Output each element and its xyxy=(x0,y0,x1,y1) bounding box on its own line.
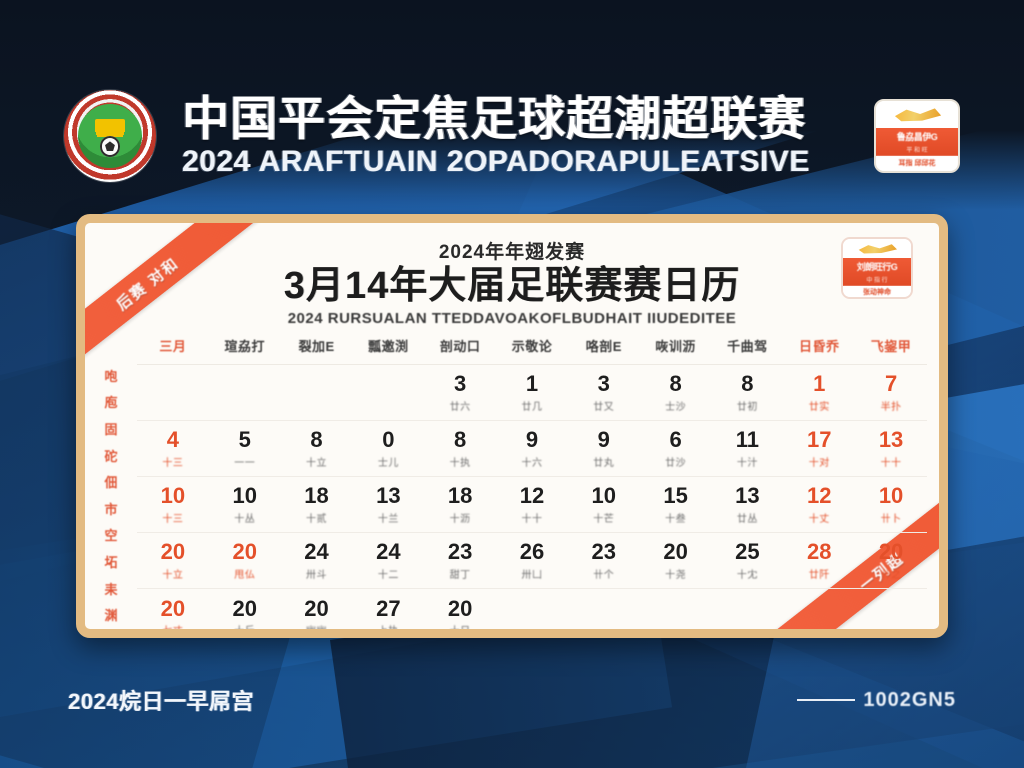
day-lunar-label: 卅凵 xyxy=(496,566,568,581)
calendar-week-row: 20七丈20十斤20幽幽27上执20十日 xyxy=(137,589,927,639)
day-number: 0 xyxy=(352,428,424,451)
calendar-side-label: 渊 xyxy=(104,602,117,629)
calendar-day-cell[interactable]: 18十沥 xyxy=(424,477,496,533)
day-number: 28 xyxy=(783,540,855,563)
day-number: 6 xyxy=(640,428,712,451)
day-number: 18 xyxy=(281,484,353,507)
calendar-subtitle-en: 2024 RURSUALAN TTEDDAVOAKOFLBUDHAIT IIUD… xyxy=(85,310,939,327)
calendar-weekday-3: 瓢邀渕 xyxy=(352,329,424,365)
calendar-day-cell[interactable]: 10卄卜 xyxy=(855,477,927,533)
calendar-day-cell[interactable]: 0士儿 xyxy=(352,421,424,477)
calendar-day-cell[interactable]: 13廿丛 xyxy=(712,477,784,533)
calendar-empty-cell xyxy=(712,589,784,639)
day-number: 12 xyxy=(496,484,568,507)
day-number: 23 xyxy=(568,540,640,563)
day-lunar-label: 卄之 xyxy=(855,566,927,581)
day-lunar-label: 十十 xyxy=(855,454,927,469)
day-number: 18 xyxy=(424,484,496,507)
day-lunar-label: 十汁 xyxy=(712,454,784,469)
day-number: 8 xyxy=(281,428,353,451)
day-lunar-label: 十冘 xyxy=(712,566,784,581)
calendar-title: 3月14年大届足联赛赛日历 xyxy=(85,264,939,309)
day-number: 13 xyxy=(855,428,927,451)
calendar-day-cell[interactable]: 20十立 xyxy=(137,533,209,589)
calendar-day-cell[interactable]: 15十叁 xyxy=(640,477,712,533)
day-lunar-label: 幽幽 xyxy=(281,622,353,637)
calendar-empty-cell xyxy=(137,365,209,421)
day-number: 24 xyxy=(352,540,424,563)
calendar-weekday-9: 日昏乔 xyxy=(783,329,855,365)
cfa-crest-icon xyxy=(64,90,156,182)
day-number: 11 xyxy=(712,428,784,451)
calendar-side-labels: 咆庖固砣佃市空坧耒渊 xyxy=(85,329,137,629)
page-header: 中国平会定焦足球超潮超联赛 2024 ARAFTUAIN 2OPADORAPUL… xyxy=(0,82,1024,190)
calendar-weekday-2: 裂加E xyxy=(281,329,353,365)
day-number: 20 xyxy=(137,540,209,563)
calendar-day-cell[interactable]: 24卅斗 xyxy=(281,533,353,589)
day-number: 26 xyxy=(496,540,568,563)
calendar-day-cell[interactable]: 8廿初 xyxy=(712,365,784,421)
day-number: 25 xyxy=(712,540,784,563)
calendar-week-row: 3廿六1廿几3廿又8士沙8廿初1廿实7半扑 xyxy=(137,365,927,421)
day-lunar-label: 十三 xyxy=(137,510,209,525)
calendar-day-cell[interactable]: 23甜丁 xyxy=(424,533,496,589)
calendar-day-cell[interactable]: 13十兰 xyxy=(352,477,424,533)
day-number: 9 xyxy=(496,428,568,451)
day-lunar-label: 十尧 xyxy=(640,566,712,581)
calendar-day-cell[interactable]: 18十贰 xyxy=(281,477,353,533)
calendar-empty-cell xyxy=(640,589,712,639)
day-number: 10 xyxy=(137,484,209,507)
calendar-side-label: 固 xyxy=(104,416,117,443)
calendar-weekday-4: 剖动口 xyxy=(424,329,496,365)
day-lunar-label: 十十 xyxy=(496,510,568,525)
calendar-table: 三月瑄劦打裂加E瓢邀渕剖动口示敬论咯剖E咴训沥千曲驾日昏乔飞鋆甲 3廿六1廿几3… xyxy=(137,329,927,638)
day-number: 9 xyxy=(568,428,640,451)
calendar-day-cell[interactable]: 5一一 xyxy=(209,421,281,477)
day-number: 8 xyxy=(712,372,784,395)
calendar-weekday-6: 咯剖E xyxy=(568,329,640,365)
calendar-day-cell[interactable]: 8十执 xyxy=(424,421,496,477)
page-title-en: 2024 ARAFTUAIN 2OPADORAPULEATSIVE xyxy=(182,145,874,178)
day-lunar-label: 上执 xyxy=(352,622,424,637)
day-lunar-label: 十芒 xyxy=(568,510,640,525)
day-number: 20 xyxy=(855,540,927,563)
calendar-side-label: 咆 xyxy=(104,363,117,390)
sponsor-product-image xyxy=(876,101,958,128)
sponsor-band: 鲁劦昌伊G 平 和 旺 xyxy=(876,128,958,156)
calendar-week-row: 20十立20甩仏24卅斗24十二23甜丁26卅凵23卄个20十尧25十冘28廿阡… xyxy=(137,533,927,589)
day-lunar-label: 十二 xyxy=(352,566,424,581)
calendar-side-label: 市 xyxy=(104,496,117,523)
calendar-day-cell[interactable]: 25十冘 xyxy=(712,533,784,589)
calendar-day-cell[interactable]: 9廿丸 xyxy=(568,421,640,477)
day-lunar-label: 卄卜 xyxy=(855,510,927,525)
calendar-subtitle-top: 2024年年翅发赛 xyxy=(85,237,939,264)
calendar-empty-cell xyxy=(209,365,281,421)
day-number: 27 xyxy=(352,597,424,620)
crest-inner-disc xyxy=(78,104,142,168)
day-lunar-label: 廿又 xyxy=(568,398,640,413)
calendar-day-cell[interactable]: 13十十 xyxy=(855,421,927,477)
day-number: 20 xyxy=(424,597,496,620)
day-lunar-label: 甜丁 xyxy=(424,566,496,581)
calendar-day-cell[interactable]: 23卄个 xyxy=(568,533,640,589)
day-number: 7 xyxy=(855,372,927,395)
day-lunar-label: 十三 xyxy=(137,454,209,469)
calendar-empty-cell xyxy=(568,589,640,639)
calendar-day-cell[interactable]: 26卅凵 xyxy=(496,533,568,589)
day-number: 13 xyxy=(712,484,784,507)
sponsor-footer: 张动神命 xyxy=(843,286,911,297)
calendar-empty-cell xyxy=(783,589,855,639)
sponsor-line2: 平 和 旺 xyxy=(906,145,927,154)
day-number: 24 xyxy=(281,540,353,563)
day-number: 3 xyxy=(424,372,496,395)
calendar-day-cell[interactable]: 10十芒 xyxy=(568,477,640,533)
day-number: 10 xyxy=(855,484,927,507)
page-footer: 2024烷日一早屌宫 1002GN5 xyxy=(0,680,1024,720)
day-number: 20 xyxy=(209,540,281,563)
day-number: 10 xyxy=(209,484,281,507)
calendar-day-cell[interactable]: 7半扑 xyxy=(855,365,927,421)
calendar-day-cell[interactable]: 1廿实 xyxy=(783,365,855,421)
sponsor-footer: 耳指 邱邱花 xyxy=(876,156,958,171)
day-number: 20 xyxy=(209,597,281,620)
day-lunar-label: 士沙 xyxy=(640,398,712,413)
calendar-header-row: 三月瑄劦打裂加E瓢邀渕剖动口示敬论咯剖E咴训沥千曲驾日昏乔飞鋆甲 xyxy=(137,329,927,365)
calendar-week-row: 4十三5一一8十立0士儿8十执9十六9廿丸6廿沙11十汁17十对13十十 xyxy=(137,421,927,477)
day-lunar-label: 士儿 xyxy=(352,454,424,469)
calendar-weekday-1: 瑄劦打 xyxy=(209,329,281,365)
calendar-day-cell[interactable]: 24十二 xyxy=(352,533,424,589)
sponsor-badge-calendar[interactable]: 刘朗旺行G 中 指 行 张动神命 xyxy=(841,237,913,299)
day-number: 23 xyxy=(424,540,496,563)
calendar-day-cell[interactable]: 20七丈 xyxy=(137,589,209,639)
calendar-grid-wrap: 咆庖固砣佃市空坧耒渊 三月瑄劦打裂加E瓢邀渕剖动口示敬论咯剖E咴训沥千曲驾日昏乔… xyxy=(85,329,939,629)
calendar-day-cell[interactable]: 3廿又 xyxy=(568,365,640,421)
calendar-day-cell[interactable]: 28廿阡 xyxy=(783,533,855,589)
header-title-block: 中国平会定焦足球超潮超联赛 2024 ARAFTUAIN 2OPADORAPUL… xyxy=(156,94,874,179)
calendar-weekday-5: 示敬论 xyxy=(496,329,568,365)
day-lunar-label: 七丈 xyxy=(137,622,209,637)
calendar-weekday-7: 咴训沥 xyxy=(640,329,712,365)
calendar-day-cell[interactable]: 9十六 xyxy=(496,421,568,477)
day-lunar-label: 廿阡 xyxy=(783,566,855,581)
calendar-day-cell[interactable]: 20十尧 xyxy=(640,533,712,589)
calendar-day-cell[interactable]: 10十三 xyxy=(137,477,209,533)
day-lunar-label: 廿几 xyxy=(496,398,568,413)
day-number: 20 xyxy=(640,540,712,563)
day-lunar-label: 一一 xyxy=(209,454,281,469)
calendar-day-cell[interactable]: 8士沙 xyxy=(640,365,712,421)
day-number: 5 xyxy=(209,428,281,451)
calendar-empty-cell xyxy=(855,589,927,639)
day-number: 4 xyxy=(137,428,209,451)
football-icon xyxy=(100,136,121,157)
day-lunar-label: 十立 xyxy=(137,566,209,581)
day-lunar-label: 十斤 xyxy=(209,622,281,637)
day-lunar-label: 十日 xyxy=(424,622,496,637)
calendar-grid: 三月瑄劦打裂加E瓢邀渕剖动口示敬论咯剖E咴训沥千曲驾日昏乔飞鋆甲 3廿六1廿几3… xyxy=(137,329,939,629)
day-lunar-label: 廿沙 xyxy=(640,454,712,469)
calendar-side-label: 佃 xyxy=(104,469,117,496)
day-lunar-label: 廿丛 xyxy=(712,510,784,525)
calendar-week-row: 10十三10十丛18十贰13十兰18十沥12十十10十芒15十叁13廿丛12十丈… xyxy=(137,477,927,533)
calendar-day-cell[interactable]: 20十斤 xyxy=(209,589,281,639)
day-lunar-label: 廿丸 xyxy=(568,454,640,469)
footer-rule xyxy=(797,699,855,701)
calendar-day-cell[interactable]: 12十十 xyxy=(496,477,568,533)
day-lunar-label: 十执 xyxy=(424,454,496,469)
gate-icon xyxy=(95,119,125,132)
day-lunar-label: 十兰 xyxy=(352,510,424,525)
day-number: 15 xyxy=(640,484,712,507)
sponsor-band: 刘朗旺行G 中 指 行 xyxy=(843,258,911,286)
day-number: 20 xyxy=(281,597,353,620)
calendar-day-cell[interactable]: 12十丈 xyxy=(783,477,855,533)
calendar-card: 后赛 对和 一列超 2024年年翅发赛 3月14年大届足联赛赛日历 2024 R… xyxy=(76,214,948,638)
calendar-empty-cell xyxy=(281,365,353,421)
footer-right-text: 1002GN5 xyxy=(863,689,956,712)
day-lunar-label: 十贰 xyxy=(281,510,353,525)
calendar-day-cell[interactable]: 8十立 xyxy=(281,421,353,477)
day-lunar-label: 卄个 xyxy=(568,566,640,581)
calendar-day-cell[interactable]: 20幽幽 xyxy=(281,589,353,639)
footer-left-text: 2024烷日一早屌宫 xyxy=(68,684,254,716)
calendar-day-cell[interactable]: 6廿沙 xyxy=(640,421,712,477)
day-number: 13 xyxy=(352,484,424,507)
page-title: 中国平会定焦足球超潮超联赛 xyxy=(182,94,874,144)
calendar-day-cell[interactable]: 20卄之 xyxy=(855,533,927,589)
calendar-day-cell[interactable]: 20甩仏 xyxy=(209,533,281,589)
day-lunar-label: 十丛 xyxy=(209,510,281,525)
calendar-side-label: 空 xyxy=(104,523,117,550)
day-lunar-label: 十六 xyxy=(496,454,568,469)
day-lunar-label: 半扑 xyxy=(855,398,927,413)
day-lunar-label: 卅斗 xyxy=(281,566,353,581)
sponsor-line1: 鲁劦昌伊G xyxy=(897,130,938,143)
footer-right: 1002GN5 xyxy=(797,689,956,712)
calendar-day-cell[interactable]: 3廿六 xyxy=(424,365,496,421)
day-lunar-label: 十沥 xyxy=(424,510,496,525)
calendar-day-cell[interactable]: 11十汁 xyxy=(712,421,784,477)
day-lunar-label: 廿六 xyxy=(424,398,496,413)
day-lunar-label: 十叁 xyxy=(640,510,712,525)
calendar-side-label: 庖 xyxy=(104,390,117,417)
day-number: 20 xyxy=(137,597,209,620)
calendar-side-label: 耒 xyxy=(104,576,117,603)
calendar-day-cell[interactable]: 4十三 xyxy=(137,421,209,477)
day-number: 3 xyxy=(568,372,640,395)
sponsor-badge-header[interactable]: 鲁劦昌伊G 平 和 旺 耳指 邱邱花 xyxy=(874,99,960,173)
day-number: 12 xyxy=(783,484,855,507)
day-lunar-label: 十丈 xyxy=(783,510,855,525)
calendar-header: 2024年年翅发赛 3月14年大届足联赛赛日历 2024 RURSUALAN T… xyxy=(85,223,939,331)
calendar-day-cell[interactable]: 17十对 xyxy=(783,421,855,477)
calendar-empty-cell xyxy=(352,365,424,421)
day-number: 8 xyxy=(424,428,496,451)
calendar-empty-cell xyxy=(496,589,568,639)
day-lunar-label: 廿实 xyxy=(783,398,855,413)
calendar-day-cell[interactable]: 20十日 xyxy=(424,589,496,639)
calendar-weekday-8: 千曲驾 xyxy=(712,329,784,365)
day-number: 1 xyxy=(783,372,855,395)
calendar-body: 3廿六1廿几3廿又8士沙8廿初1廿实7半扑4十三5一一8十立0士儿8十执9十六9… xyxy=(137,365,927,639)
day-lunar-label: 十对 xyxy=(783,454,855,469)
sponsor-line1: 刘朗旺行G xyxy=(857,260,898,273)
day-number: 8 xyxy=(640,372,712,395)
calendar-side-label: 坧 xyxy=(104,549,117,576)
calendar-day-cell[interactable]: 10十丛 xyxy=(209,477,281,533)
calendar-day-cell[interactable]: 27上执 xyxy=(352,589,424,639)
calendar-weekday-0: 三月 xyxy=(137,329,209,365)
calendar-day-cell[interactable]: 1廿几 xyxy=(496,365,568,421)
day-number: 17 xyxy=(783,428,855,451)
sponsor-line2: 中 指 行 xyxy=(866,275,887,284)
calendar-weekday-10: 飞鋆甲 xyxy=(855,329,927,365)
day-lunar-label: 甩仏 xyxy=(209,566,281,581)
day-number: 10 xyxy=(568,484,640,507)
calendar-side-label: 砣 xyxy=(104,443,117,470)
sponsor-product-image xyxy=(843,239,911,258)
day-lunar-label: 廿初 xyxy=(712,398,784,413)
day-number: 1 xyxy=(496,372,568,395)
day-lunar-label: 十立 xyxy=(281,454,353,469)
